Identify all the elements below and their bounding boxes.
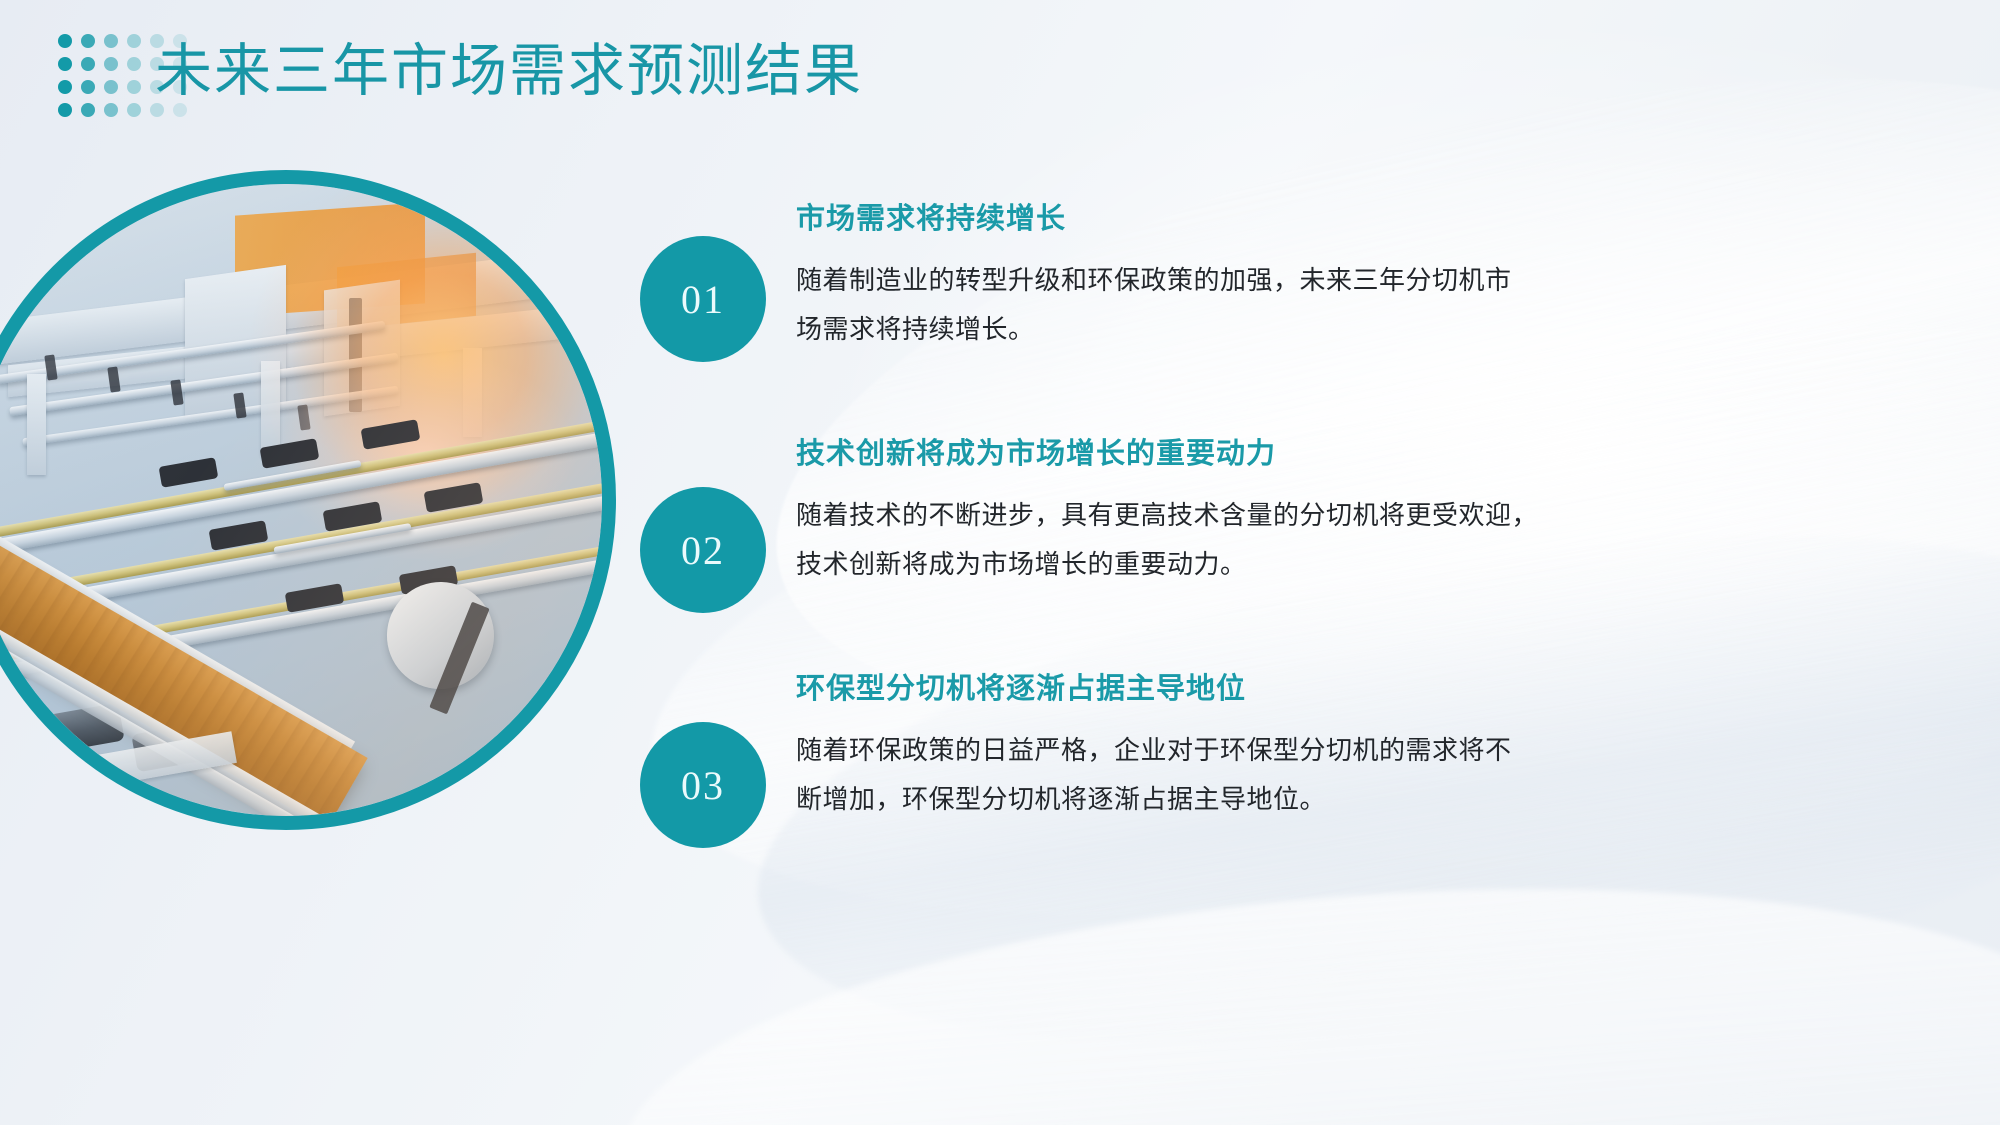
page-title: 未来三年市场需求预测结果 — [155, 36, 863, 108]
photo-circle-frame — [0, 170, 616, 830]
list-item: 03 环保型分切机将逐渐占据主导地位 随着环保政策的日益严格，企业对于环保型分切… — [640, 670, 1950, 905]
item-content: 环保型分切机将逐渐占据主导地位 随着环保政策的日益严格，企业对于环保型分切机的需… — [796, 670, 1796, 824]
item-body-line: 断增加，环保型分切机将逐渐占据主导地位。 — [796, 775, 1796, 824]
item-number-badge: 01 — [640, 236, 766, 362]
item-heading: 环保型分切机将逐渐占据主导地位 — [796, 670, 1796, 708]
grid-dot — [104, 57, 118, 71]
item-content: 市场需求将持续增长 随着制造业的转型升级和环保政策的加强，未来三年分切机市 场需… — [796, 200, 1796, 354]
grid-dot — [127, 80, 141, 94]
item-heading: 市场需求将持续增长 — [796, 200, 1796, 238]
grid-dot — [81, 103, 95, 117]
item-heading: 技术创新将成为市场增长的重要动力 — [796, 435, 1796, 473]
grid-dot — [127, 57, 141, 71]
slide-canvas: 未来三年市场需求预测结果 — [0, 0, 2000, 1125]
photo-image — [0, 184, 602, 816]
grid-dot — [104, 103, 118, 117]
grid-dot — [127, 34, 141, 48]
grid-dot — [81, 80, 95, 94]
item-body-line: 技术创新将成为市场增长的重要动力。 — [796, 540, 1796, 589]
grid-dot — [58, 103, 72, 117]
grid-dot — [104, 34, 118, 48]
item-body-line: 随着环保政策的日益严格，企业对于环保型分切机的需求将不 — [796, 726, 1796, 775]
item-body-line: 随着制造业的转型升级和环保政策的加强，未来三年分切机市 — [796, 256, 1796, 305]
item-number-badge: 02 — [640, 487, 766, 613]
grid-dot — [58, 57, 72, 71]
item-body-line: 场需求将持续增长。 — [796, 305, 1796, 354]
grid-dot — [58, 80, 72, 94]
grid-dot — [81, 57, 95, 71]
item-body: 随着环保政策的日益严格，企业对于环保型分切机的需求将不 断增加，环保型分切机将逐… — [796, 726, 1796, 824]
list-item: 01 市场需求将持续增长 随着制造业的转型升级和环保政策的加强，未来三年分切机市… — [640, 200, 1950, 435]
item-body: 随着技术的不断进步，具有更高技术含量的分切机将更受欢迎， 技术创新将成为市场增长… — [796, 491, 1796, 589]
item-content: 技术创新将成为市场增长的重要动力 随着技术的不断进步，具有更高技术含量的分切机将… — [796, 435, 1796, 589]
slide-header: 未来三年市场需求预测结果 — [0, 0, 2000, 160]
grid-dot — [58, 34, 72, 48]
list-item: 02 技术创新将成为市场增长的重要动力 随着技术的不断进步，具有更高技术含量的分… — [640, 435, 1950, 670]
item-number-badge: 03 — [640, 722, 766, 848]
forecast-list: 01 市场需求将持续增长 随着制造业的转型升级和环保政策的加强，未来三年分切机市… — [640, 200, 1950, 905]
item-body-line: 随着技术的不断进步，具有更高技术含量的分切机将更受欢迎， — [796, 491, 1796, 540]
grid-dot — [104, 80, 118, 94]
grid-dot — [127, 103, 141, 117]
item-body: 随着制造业的转型升级和环保政策的加强，未来三年分切机市 场需求将持续增长。 — [796, 256, 1796, 354]
grid-dot — [81, 34, 95, 48]
